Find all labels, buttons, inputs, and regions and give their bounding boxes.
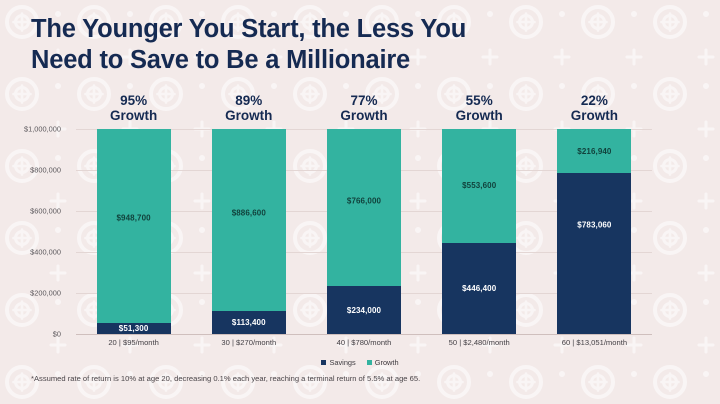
column-growth-word: Growth	[110, 108, 157, 123]
column-growth-header: 55%Growth	[456, 93, 503, 123]
legend-swatch-icon	[321, 360, 326, 365]
bar-segment-growth-label: $553,600	[462, 181, 496, 190]
column-growth-percent: 95%	[110, 93, 157, 108]
column-growth-word: Growth	[571, 108, 618, 123]
column-growth-word: Growth	[340, 108, 387, 123]
page-title-line-1: The Younger You Start, the Less You	[31, 14, 571, 45]
stacked-bar[interactable]: $766,000$234,000	[327, 129, 401, 334]
bar-segment-savings[interactable]: $51,300	[97, 323, 171, 334]
y-axis-tick-label: $400,000	[0, 248, 68, 257]
stacked-bar[interactable]: $216,940$783,060	[557, 129, 631, 334]
y-axis-tick-label: $600,000	[0, 207, 68, 216]
stacked-bar[interactable]: $948,700$51,300	[97, 129, 171, 334]
bar-segment-growth-label: $886,600	[212, 208, 286, 217]
bar-column: 89%Growth$886,600$113,40030 | $270/month	[212, 129, 286, 334]
legend-swatch-icon	[367, 360, 372, 365]
y-axis-tick-label: $800,000	[0, 166, 68, 175]
bar-segment-growth[interactable]: $948,700	[97, 129, 171, 323]
bar-column: 22%Growth$216,940$783,06060 | $13,051/mo…	[557, 129, 631, 334]
chart-plot-area: 95%Growth$948,700$51,30020 | $95/month89…	[76, 129, 652, 334]
axis-baseline	[76, 334, 652, 335]
bar-column: 55%Growth$553,600$446,40050 | $2,480/mon…	[442, 129, 516, 334]
page-title-line-2: Need to Save to Be a Millionaire	[31, 45, 571, 76]
bar-segment-growth-label: $766,000	[327, 197, 401, 206]
column-growth-percent: 89%	[225, 93, 272, 108]
bar-segment-savings-label: $113,400	[232, 318, 266, 327]
x-axis-tick-label: 30 | $270/month	[221, 338, 276, 347]
bar-segment-savings[interactable]: $113,400	[212, 311, 286, 334]
x-axis-tick-label: 50 | $2,480/month	[449, 338, 510, 347]
column-growth-header: 22%Growth	[571, 93, 618, 123]
legend-item[interactable]: Savings	[321, 358, 355, 367]
y-axis-tick-label: $200,000	[0, 289, 68, 298]
bar-segment-savings[interactable]: $234,000	[327, 286, 401, 334]
bar-segment-savings[interactable]: $446,400	[442, 243, 516, 335]
chart-legend: SavingsGrowth	[0, 358, 720, 367]
column-growth-percent: 22%	[571, 93, 618, 108]
footnote: *Assumed rate of return is 10% at age 20…	[31, 374, 420, 383]
column-growth-word: Growth	[225, 108, 272, 123]
bar-segment-growth[interactable]: $216,940	[557, 129, 631, 173]
page-title: The Younger You Start, the Less You Need…	[31, 14, 571, 76]
bar-segment-savings-label: $51,300	[119, 324, 149, 333]
infographic-canvas: The Younger You Start, the Less You Need…	[0, 0, 720, 404]
bar-segment-growth[interactable]: $553,600	[442, 129, 516, 242]
bar-segment-growth-label: $948,700	[97, 214, 171, 223]
x-axis-tick-label: 40 | $780/month	[337, 338, 392, 347]
legend-item[interactable]: Growth	[367, 358, 399, 367]
legend-label: Savings	[329, 358, 355, 367]
x-axis-tick-label: 60 | $13,051/month	[562, 338, 627, 347]
x-axis-tick-label: 20 | $95/month	[108, 338, 159, 347]
column-growth-header: 95%Growth	[110, 93, 157, 123]
bar-segment-savings-label: $446,400	[462, 284, 496, 293]
column-growth-header: 89%Growth	[225, 93, 272, 123]
column-growth-header: 77%Growth	[340, 93, 387, 123]
column-growth-word: Growth	[456, 108, 503, 123]
bar-segment-growth[interactable]: $766,000	[327, 129, 401, 286]
bar-column: 77%Growth$766,000$234,00040 | $780/month	[327, 129, 401, 334]
legend-label: Growth	[375, 358, 399, 367]
bar-segment-growth[interactable]: $886,600	[212, 129, 286, 311]
bar-segment-savings-label: $783,060	[557, 220, 631, 229]
column-growth-percent: 55%	[456, 93, 503, 108]
bar-segment-growth-label: $216,940	[577, 147, 611, 156]
bar-column: 95%Growth$948,700$51,30020 | $95/month	[97, 129, 171, 334]
bar-segment-savings[interactable]: $783,060	[557, 173, 631, 334]
column-growth-percent: 77%	[340, 93, 387, 108]
y-axis-tick-label: $1,000,000	[0, 125, 68, 134]
y-axis-tick-label: $0	[0, 330, 68, 339]
bar-segment-savings-label: $234,000	[347, 306, 381, 315]
stacked-bar[interactable]: $553,600$446,400	[442, 129, 516, 334]
stacked-bar[interactable]: $886,600$113,400	[212, 129, 286, 334]
